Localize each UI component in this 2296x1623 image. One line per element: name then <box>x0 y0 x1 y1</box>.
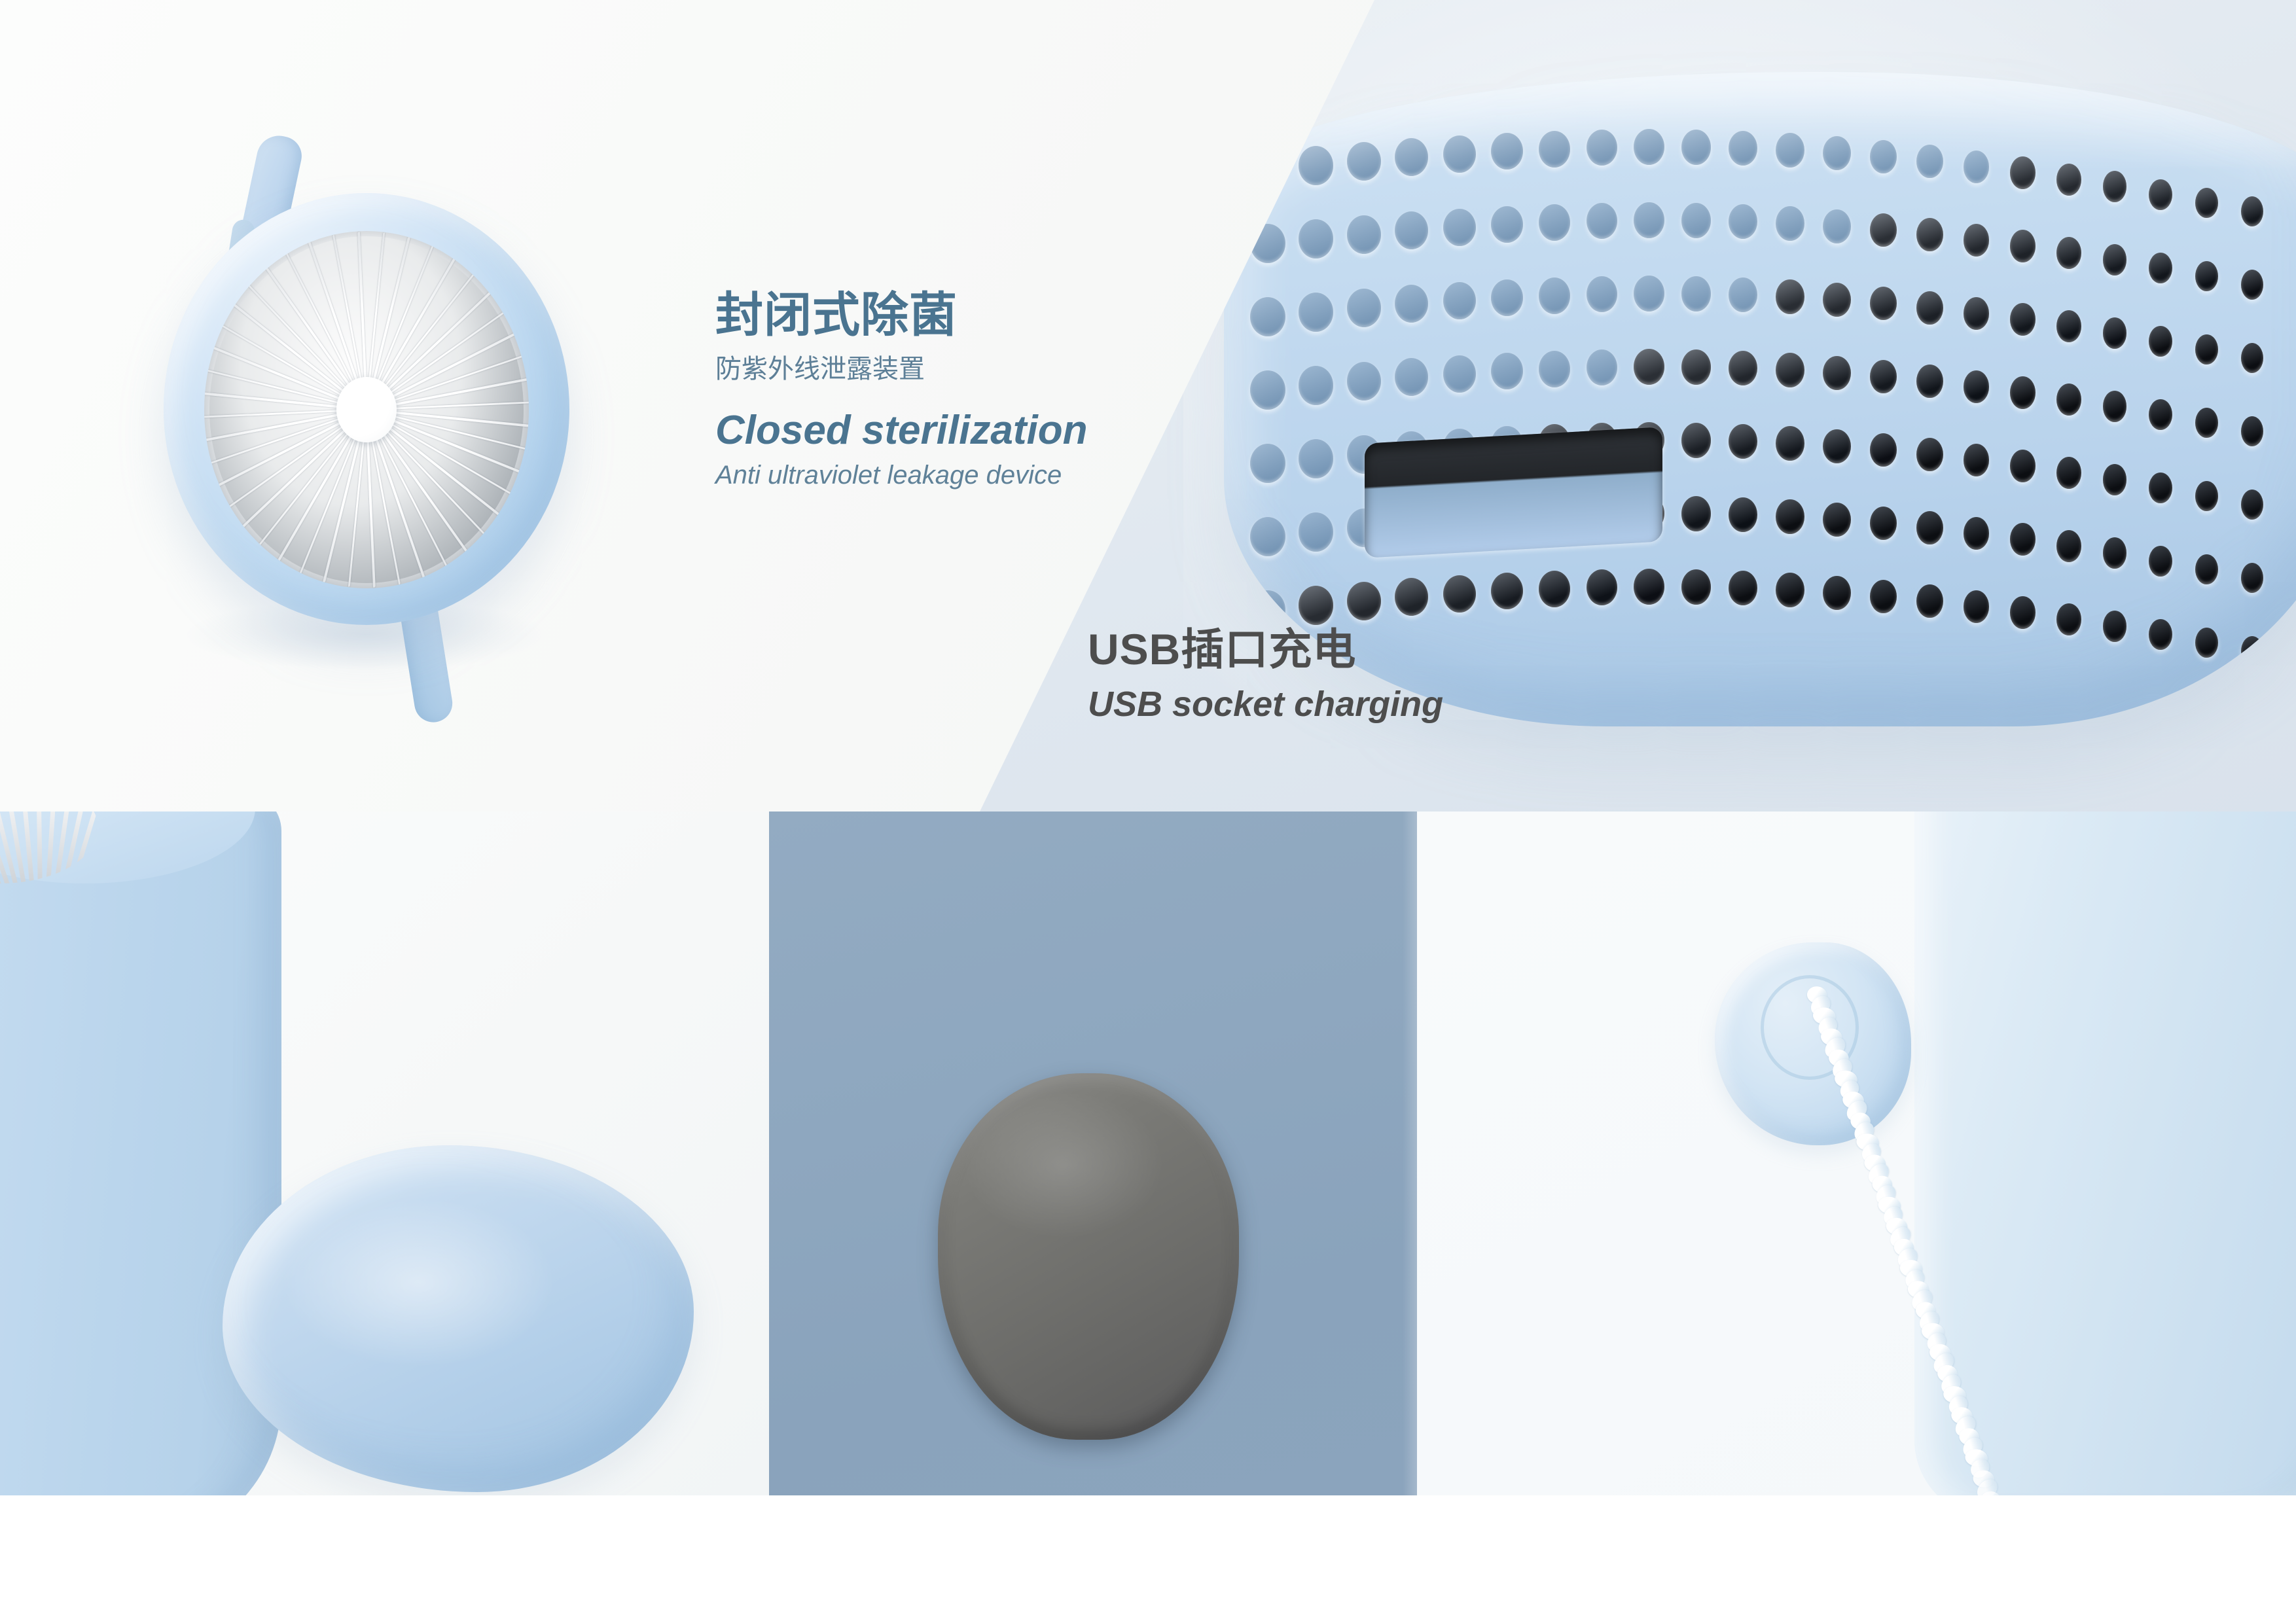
shell-hole <box>1587 130 1617 166</box>
panel-right-edge-highlight <box>1403 811 1417 1495</box>
shell-hole <box>1539 351 1570 387</box>
shell-hole <box>2195 261 2218 292</box>
shell-hole <box>2195 334 2218 365</box>
shell-hole <box>2103 391 2127 422</box>
shell-hole <box>1443 209 1476 246</box>
caption-en-title: USB socket charging <box>1088 684 1443 725</box>
shell-hole <box>1964 517 1990 550</box>
shell-hole <box>1729 204 1757 239</box>
shell-hole <box>2010 450 2036 482</box>
shell-hole <box>2241 636 2263 666</box>
shell-hole <box>1250 444 1285 483</box>
shell-hole <box>2241 343 2263 373</box>
grille-slat <box>36 811 43 883</box>
shell-hole <box>2149 546 2172 577</box>
shell-hole <box>2010 523 2036 555</box>
shell-hole <box>1729 277 1757 312</box>
shell-hole <box>1634 569 1664 605</box>
shell-hole <box>1347 289 1381 327</box>
device-grille-edge <box>0 811 98 883</box>
shell-hole <box>1729 131 1757 166</box>
shell-hole <box>2195 554 2218 585</box>
shell-hole <box>1299 512 1333 551</box>
shell-hole <box>2195 628 2218 658</box>
shell-hole <box>1491 133 1523 170</box>
shell-hole <box>1443 575 1476 613</box>
shell-hole <box>1681 349 1711 385</box>
shell-hole <box>1823 503 1851 537</box>
shell-hole <box>1539 204 1570 241</box>
shell-hole <box>2195 481 2218 512</box>
integration-button-panel: 集成按钮 延时防误触 Integration button Time delay… <box>769 811 1417 1495</box>
shell-hole <box>2149 326 2172 357</box>
shell-hole <box>2103 244 2127 276</box>
shell-hole <box>1916 291 1943 325</box>
shell-hole <box>2103 537 2127 569</box>
shell-hole <box>1299 293 1333 331</box>
caption-en-subtitle: Anti ultraviolet leakage device <box>715 459 1087 491</box>
shell-hole <box>2010 596 2036 628</box>
caption-cn-title: 封闭式除菌 <box>715 288 1087 343</box>
shell-hole <box>2149 179 2172 210</box>
shell-hole <box>2010 230 2036 262</box>
shell-hole <box>1395 211 1428 249</box>
silica-gel-panel: 食用级硅胶保护壳 Edible silica gel protective sh… <box>0 811 769 1495</box>
shell-hole <box>2103 317 2127 349</box>
shell-hole <box>2056 237 2081 269</box>
shell-hole <box>1729 351 1757 385</box>
shell-hole <box>2149 399 2172 430</box>
shell-hole <box>1823 136 1851 170</box>
shell-hole <box>2056 457 2081 489</box>
shell-hole <box>2241 416 2263 446</box>
shell-hole <box>1395 138 1428 176</box>
shell-hole <box>1823 356 1851 390</box>
shell-hole <box>1491 279 1523 317</box>
shell-hole <box>2241 196 2263 226</box>
shell-hole <box>1299 366 1333 404</box>
shell-hole <box>1634 129 1664 165</box>
shell-hole <box>1916 365 1943 398</box>
fan-hub <box>336 377 397 442</box>
shell-hole <box>1823 429 1851 463</box>
shell-hole <box>1870 580 1897 613</box>
button-highlight <box>965 1093 1162 1237</box>
shell-hole <box>1681 130 1711 165</box>
device-body-photo <box>1914 811 2296 1495</box>
shell-hole <box>1347 142 1381 181</box>
shell-hole <box>1870 433 1897 467</box>
bottom-row: 食用级硅胶保护壳 Edible silica gel protective sh… <box>0 811 2296 1495</box>
shell-hole <box>2103 171 2127 202</box>
shell-hole <box>1299 219 1333 258</box>
shell-hole <box>1729 424 1757 459</box>
shell-hole <box>2149 253 2172 283</box>
shell-hole <box>1964 590 1990 623</box>
shell-hole <box>1395 578 1428 616</box>
shell-hole <box>1250 370 1285 410</box>
shell-hole <box>1539 571 1570 607</box>
shell-hole <box>1776 573 1804 607</box>
shell-hole <box>2103 464 2127 495</box>
shell-hole <box>1681 496 1711 531</box>
shell-hole <box>1916 438 1943 471</box>
shell-hole <box>1776 353 1804 387</box>
shell-hole <box>1681 423 1711 458</box>
fan-grille <box>204 231 529 588</box>
shell-hole <box>2056 603 2081 635</box>
shell-hole <box>1491 353 1523 390</box>
top-row: 封闭式除菌 防紫外线泄露装置 Closed sterilization Anti… <box>0 0 2296 811</box>
shell-hole <box>1870 507 1897 540</box>
shell-hole <box>1964 444 1990 476</box>
shell-hole <box>1299 586 1333 624</box>
shell-hole <box>1634 349 1664 385</box>
shell-hole <box>2195 188 2218 219</box>
shell-hole <box>1870 140 1897 173</box>
fan-product-photo <box>164 141 596 704</box>
shell-hole <box>1250 297 1285 336</box>
shell-hole <box>1681 276 1711 312</box>
caption-closed-sterilization: 封闭式除菌 防紫外线泄露装置 Closed sterilization Anti… <box>715 288 1087 491</box>
shell-hole <box>1347 582 1381 620</box>
shell-hole <box>1347 215 1381 254</box>
shell-hole <box>2195 408 2218 438</box>
shell-hole <box>1347 362 1381 401</box>
shell-hole <box>1443 282 1476 319</box>
shell-hole <box>2103 611 2127 642</box>
shell-hole <box>2010 156 2036 188</box>
shell-hole <box>1587 349 1617 385</box>
shell-hole <box>1776 499 1804 534</box>
shell-hole <box>1250 517 1285 556</box>
fan-outer-ring <box>164 193 569 625</box>
shell-hole <box>1916 511 1943 544</box>
shell-hole <box>1299 146 1333 185</box>
caption-cn-title: USB插口充电 <box>1088 625 1443 675</box>
shell-hole <box>1250 590 1285 630</box>
shell-hole <box>1729 497 1757 532</box>
shell-hole <box>1916 584 1943 618</box>
shell-hole <box>1729 571 1757 605</box>
shell-hole <box>2241 563 2263 593</box>
shell-hole <box>1823 209 1851 243</box>
shell-hole <box>1776 426 1804 461</box>
shell-hole <box>1299 439 1333 478</box>
shell-hole <box>2010 303 2036 335</box>
shell-hole <box>1870 287 1897 320</box>
shell-hole <box>1964 151 1990 183</box>
shell-hole <box>1539 277 1570 314</box>
integration-button[interactable] <box>938 1073 1239 1440</box>
shell-hole <box>1443 135 1476 173</box>
shell-hole <box>2149 473 2172 503</box>
silicone-gel-highlight <box>281 1198 556 1368</box>
shell-hole <box>1443 355 1476 393</box>
shell-hole <box>1587 569 1617 605</box>
shell-hole <box>2056 164 2081 196</box>
shell-hole <box>1587 276 1617 312</box>
shell-hole <box>1916 145 1943 178</box>
shell-hole <box>1491 206 1523 243</box>
shell-hole <box>1491 573 1523 610</box>
shell-hole <box>1681 203 1711 238</box>
shell-hole <box>2056 530 2081 562</box>
caption-usb-socket-charging: USB插口充电 USB socket charging <box>1088 625 1443 725</box>
caption-en-title: Closed sterilization <box>715 407 1087 454</box>
braided-rope-panel: 负离子流编织绳 可挂于胸前或书包上 Negative ion braided r… <box>1417 811 2296 1495</box>
shell-hole <box>2241 490 2263 520</box>
shell-hole <box>1395 358 1428 396</box>
shell-hole <box>1634 202 1664 238</box>
device-body-photo <box>0 811 281 1495</box>
shell-hole <box>1539 131 1570 168</box>
shell-hole <box>1634 276 1664 312</box>
shell-hole <box>1870 213 1897 247</box>
shell-hole <box>1395 285 1428 323</box>
caption-cn-subtitle: 防紫外线泄露装置 <box>715 353 1087 385</box>
shell-hole <box>1870 360 1897 393</box>
shell-hole <box>1681 569 1711 605</box>
shell-hole <box>1587 203 1617 239</box>
shell-hole <box>1916 218 1943 251</box>
shell-hole <box>1964 297 1990 330</box>
shell-hole <box>1776 279 1804 314</box>
shell-hole <box>2149 619 2172 650</box>
shell-hole <box>2056 383 2081 416</box>
shell-hole <box>2010 376 2036 408</box>
shell-hole <box>1776 133 1804 168</box>
shell-hole <box>1823 283 1851 317</box>
product-feature-board: 封闭式除菌 防紫外线泄露装置 Closed sterilization Anti… <box>0 0 2296 1623</box>
shell-hole <box>1823 576 1851 610</box>
shell-hole <box>1964 224 1990 257</box>
shell-hole <box>2056 310 2081 342</box>
usb-port-slot <box>1365 427 1662 558</box>
shell-hole <box>1776 206 1804 241</box>
shell-hole <box>2241 270 2263 300</box>
shell-hole <box>1964 370 1990 403</box>
